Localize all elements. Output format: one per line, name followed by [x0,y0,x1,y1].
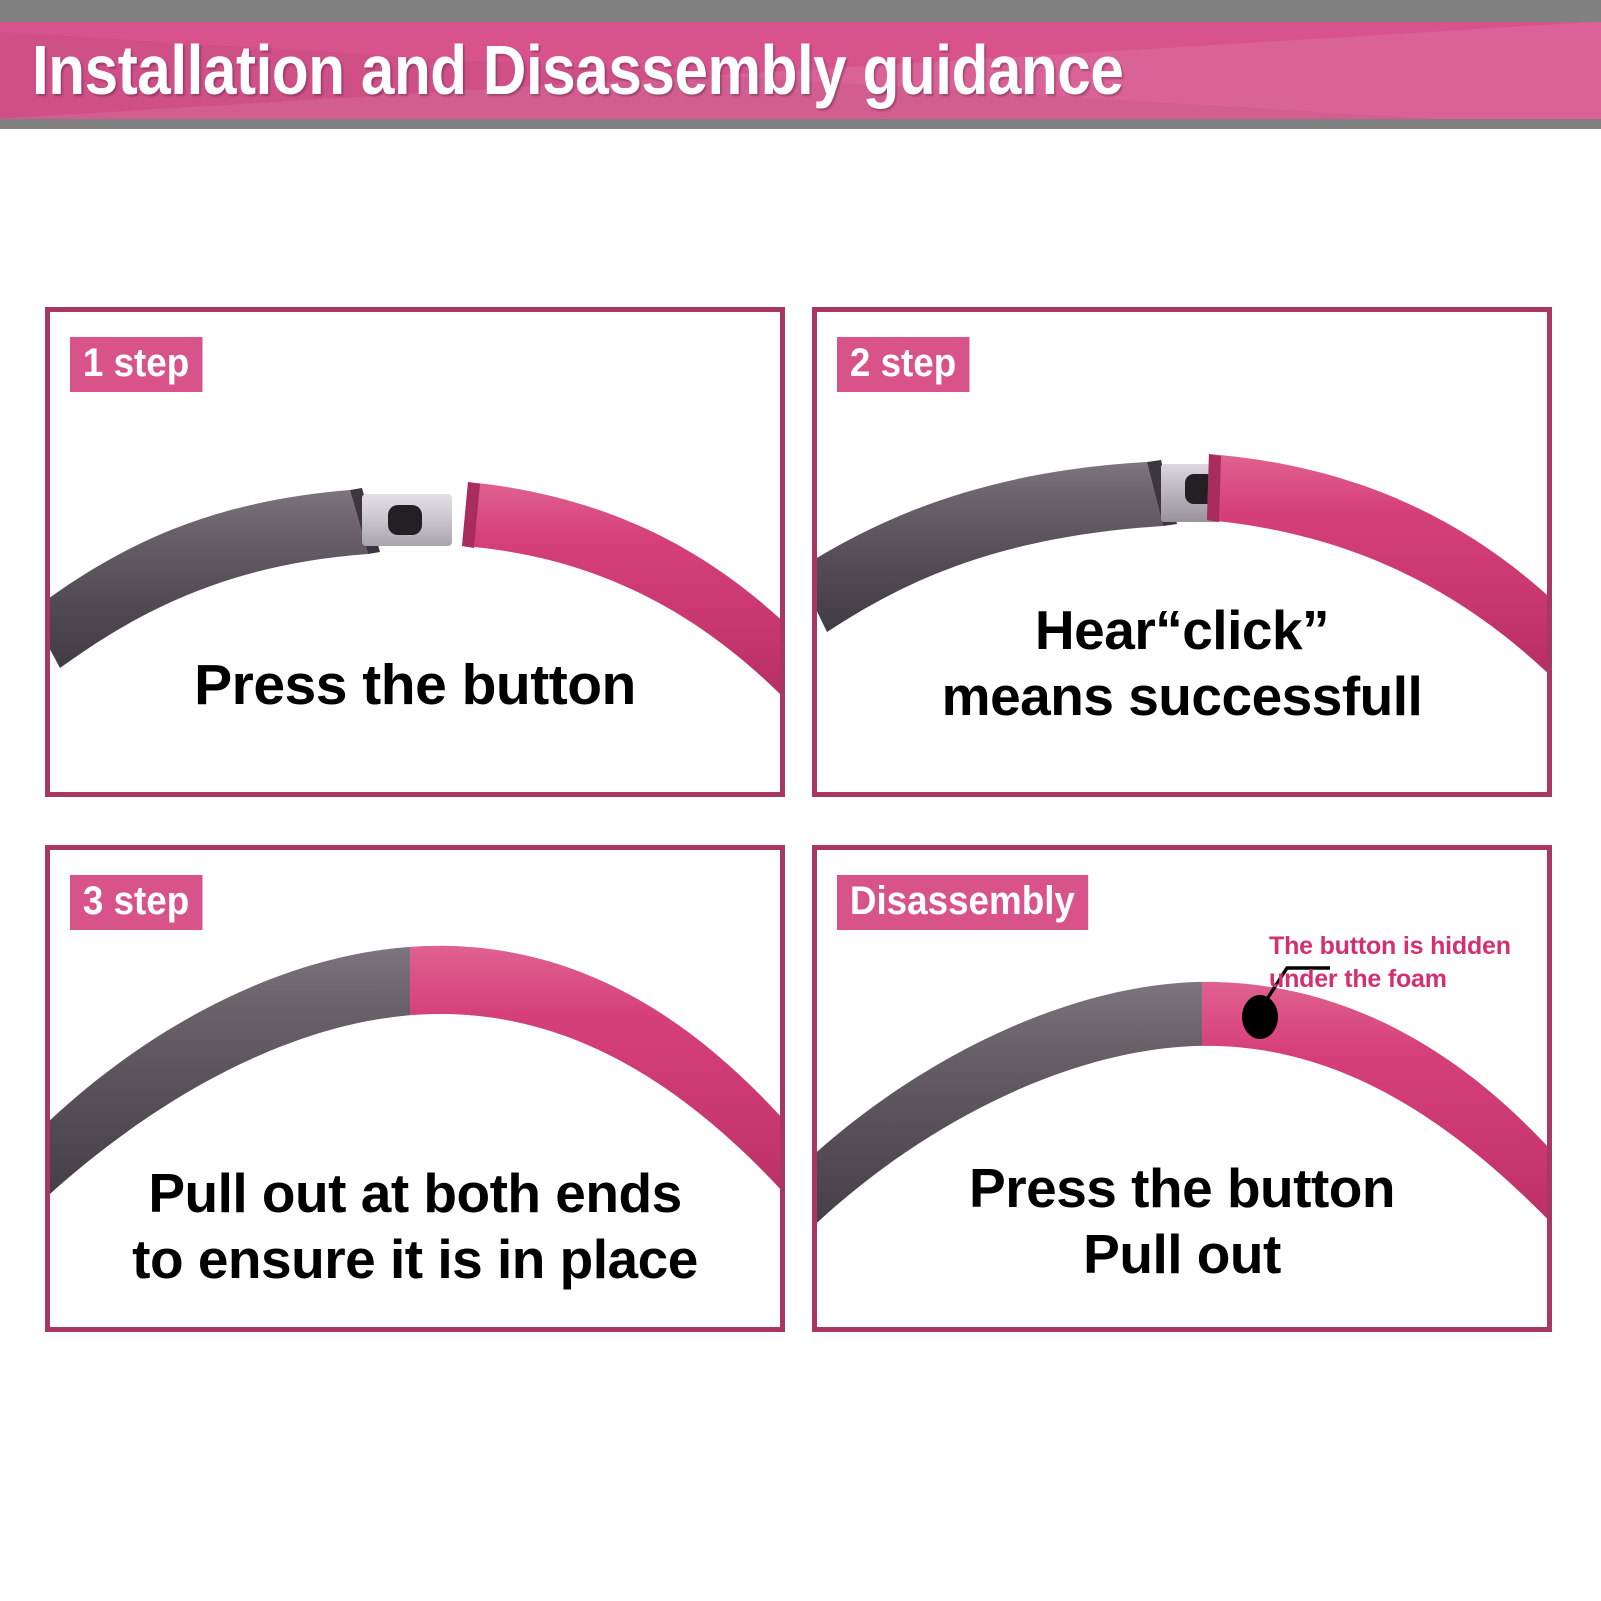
page-title: Installation and Disassembly guidance [32,24,1123,116]
step-badge: 3 step [70,875,202,930]
panel-step-3: 3 step Pull out at both ends to ensure i… [45,845,785,1332]
disassembly-badge: Disassembly [837,875,1088,930]
annotation-hidden-button: The button is hidden under the foam [1269,930,1511,996]
step-caption: Pull out at both ends to ensure it is in… [50,1160,780,1292]
disassembly-caption: Press the button Pull out [817,1155,1547,1287]
steps-grid: 1 step Press the button [0,0,1601,1601]
step-caption: Hear“click” means successfull [817,597,1547,729]
step-caption: Press the button [50,652,780,718]
panel-step-2: 2 step Hear“click” means successfull [812,307,1552,797]
panel-step-1: 1 step Press the button [45,307,785,797]
step-badge: 1 step [70,337,202,392]
step-badge: 2 step [837,337,969,392]
panel-disassembly: The button is hidden under the foam Disa… [812,845,1552,1332]
hidden-button-marker [1242,995,1278,1039]
